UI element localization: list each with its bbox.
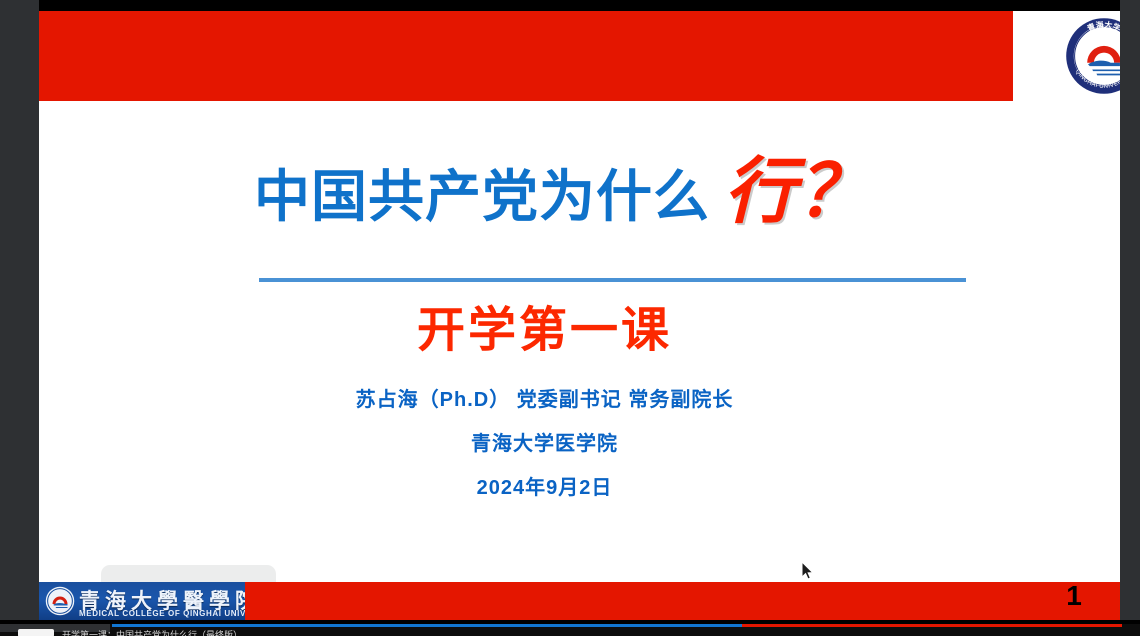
presenter-name: 苏占海（Ph.D） 党委副书记 常务副院长	[39, 390, 1085, 410]
medical-college-logo: 青海大學醫學院 MEDICAL COLLEGE OF QINGHAI UNIVE…	[39, 582, 245, 620]
presentation-date: 2024年9月2日	[39, 478, 1085, 498]
taskbar-app-chip[interactable]	[18, 629, 54, 636]
taskbar-progress-red	[742, 624, 1122, 627]
taskbar-window-title: 开学第一课：中国共产党为什么行（最终版）	[62, 628, 242, 636]
taskbar-progress-blue	[112, 624, 742, 627]
title-divider-rule	[259, 278, 966, 282]
os-taskbar-sliver[interactable]: 开学第一课：中国共产党为什么行（最终版）	[0, 624, 1140, 636]
slide-subtitle: 开学第一课	[39, 290, 1085, 360]
application-window: 青海大学 QINGHAI UNIVERSITY 中国共产党为什么行？ 开学第一课…	[0, 0, 1140, 636]
viewer-left-rail	[0, 0, 39, 624]
title-red-text: 行？	[710, 152, 870, 232]
slide-canvas[interactable]: 青海大学 QINGHAI UNIVERSITY 中国共产党为什么行？ 开学第一课…	[39, 0, 1120, 624]
medical-college-english-name: MEDICAL COLLEGE OF QINGHAI UNIVERSITY	[79, 609, 245, 618]
presenter-organization: 青海大学医学院	[39, 434, 1085, 454]
presenter-block: 苏占海（Ph.D） 党委副书记 常务副院长 青海大学医学院 2024年9月2日	[39, 390, 1085, 498]
title-area: 中国共产党为什么行？	[39, 150, 1120, 235]
medical-college-seal-icon	[45, 586, 75, 616]
slide-top-black-strip	[39, 0, 1120, 11]
title-blue-text: 中国共产党为什么	[254, 165, 710, 228]
slide-top-red-banner	[39, 11, 1013, 101]
viewer-right-rail	[1120, 0, 1140, 624]
page-title: 中国共产党为什么行？	[39, 150, 1120, 235]
qinghai-university-seal-icon: 青海大学 QINGHAI UNIVERSITY	[1062, 14, 1120, 98]
slide-page-number: 1	[1059, 580, 1089, 612]
